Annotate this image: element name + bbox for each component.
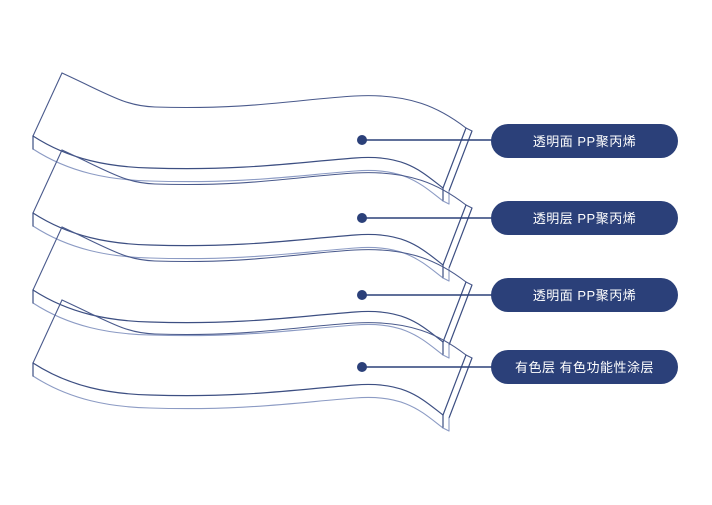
callout-dot-4	[357, 362, 367, 372]
callout-dot-3	[357, 290, 367, 300]
layer-label-text-2: 透明层 PP聚丙烯	[533, 212, 636, 225]
slab-layer-1	[33, 73, 472, 204]
layer-label-pill-2[interactable]: 透明层 PP聚丙烯	[491, 201, 678, 235]
layer-label-text-4: 有色层 有色功能性涂层	[515, 361, 654, 374]
layer-label-text-3: 透明面 PP聚丙烯	[533, 289, 636, 302]
slab-layer-3	[33, 227, 472, 358]
layer-label-pill-3[interactable]: 透明面 PP聚丙烯	[491, 278, 678, 312]
layer-stack-diagram: 透明面 PP聚丙烯 透明层 PP聚丙烯 透明面 PP聚丙烯 有色层 有色功能性涂…	[0, 0, 712, 505]
layer-label-text-1: 透明面 PP聚丙烯	[533, 135, 636, 148]
layer-label-pill-4[interactable]: 有色层 有色功能性涂层	[491, 350, 678, 384]
layer-stack-graphic	[0, 0, 712, 505]
layer-label-pill-1[interactable]: 透明面 PP聚丙烯	[491, 124, 678, 158]
callout-dot-1	[357, 135, 367, 145]
slab-layer-2	[33, 150, 472, 281]
callout-dot-2	[357, 213, 367, 223]
slab-layer-4	[33, 300, 472, 431]
